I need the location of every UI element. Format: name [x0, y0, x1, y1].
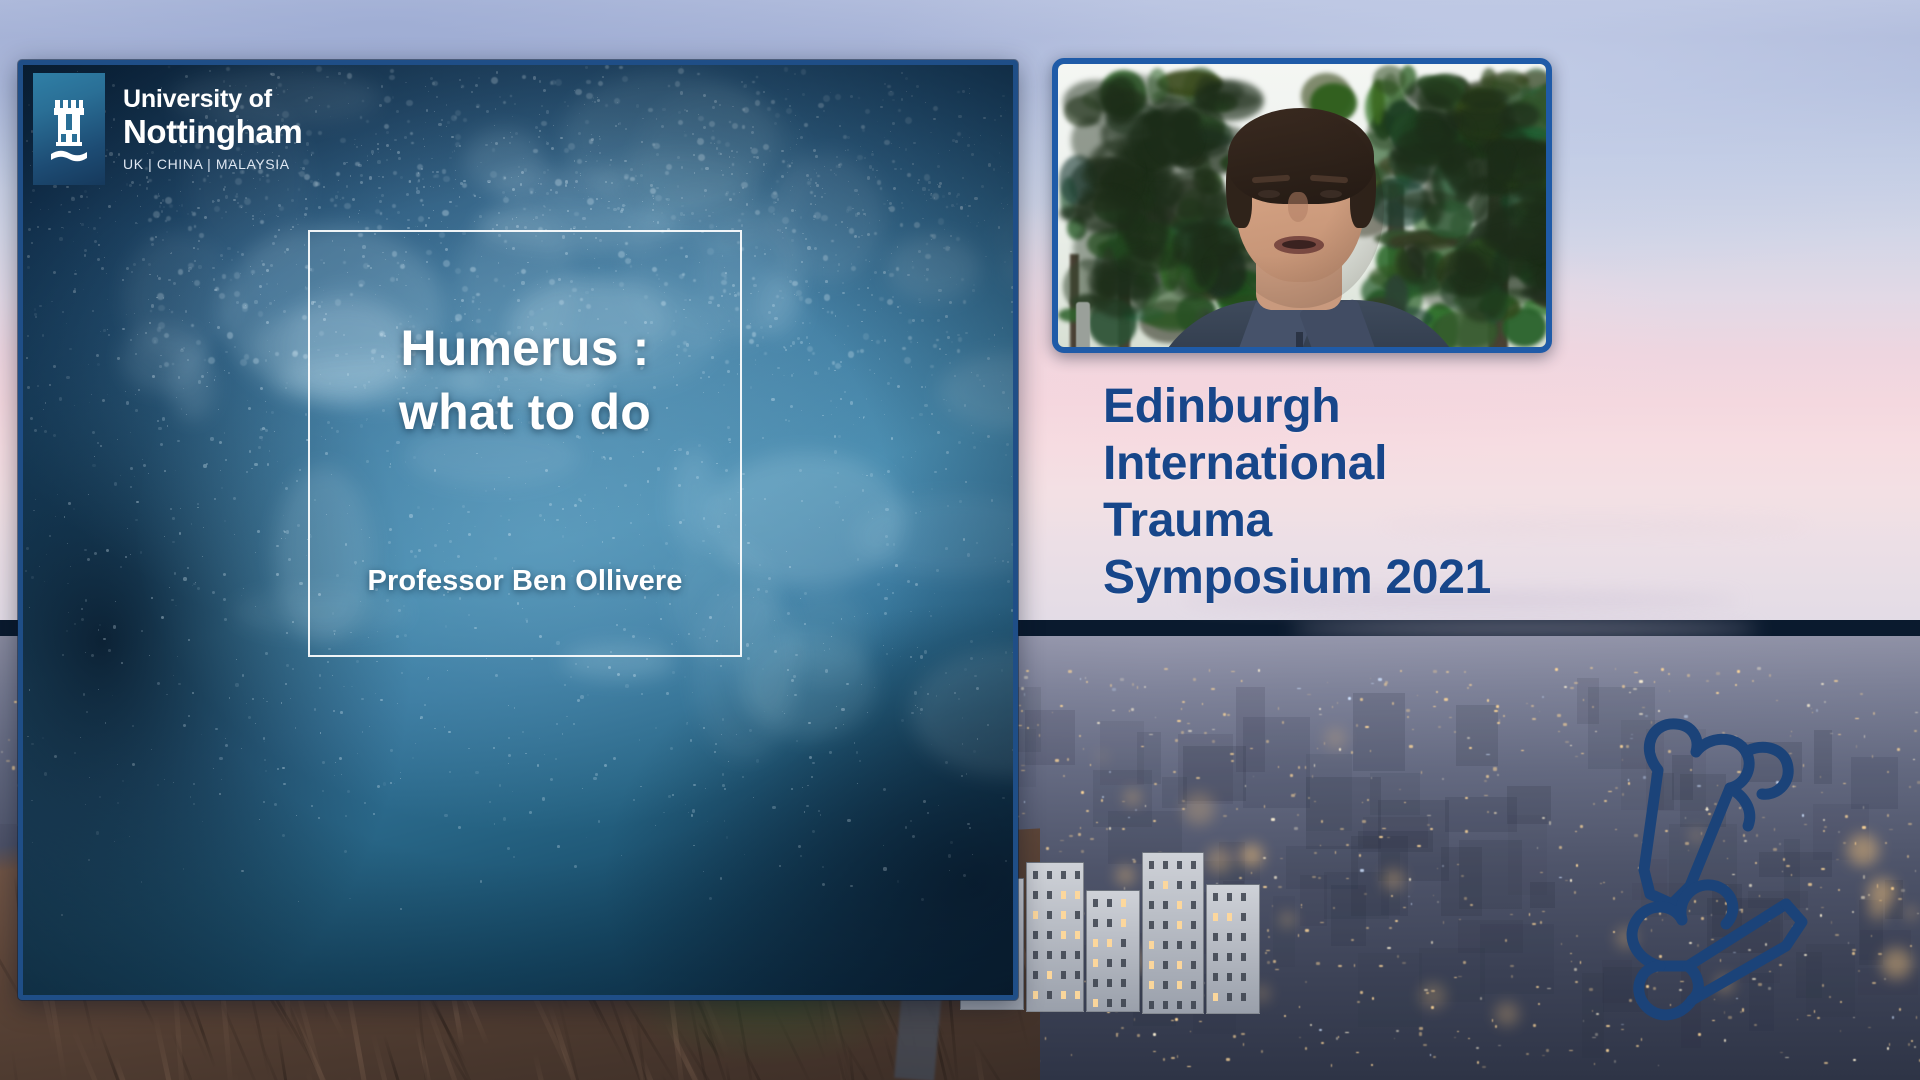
presentation-slide[interactable]: University of Nottingham UK | CHINA | MA…: [18, 60, 1018, 1000]
university-of-nottingham-logo: University of Nottingham UK | CHINA | MA…: [33, 73, 302, 193]
webcam-scene: [1058, 64, 1546, 347]
slide-title: Humerus : what to do: [399, 316, 651, 444]
presentation-stage: University of Nottingham UK | CHINA | MA…: [0, 0, 1920, 1080]
crest-icon: [33, 73, 105, 185]
speaker-face-shading: [1218, 108, 1384, 308]
event-title: Edinburgh International Trauma Symposium…: [1103, 378, 1903, 606]
webcam-video-panel[interactable]: [1052, 58, 1552, 353]
university-logo-text: University of Nottingham UK | CHINA | MA…: [105, 73, 302, 171]
slide-title-frame: Humerus : what to do Professor Ben Olliv…: [308, 230, 742, 657]
fractured-bone-logo-icon: [1540, 708, 1900, 1058]
slide-presenter-name: Professor Ben Ollivere: [310, 565, 740, 598]
logo-line-university-of: University of: [123, 87, 302, 112]
webcam-post: [1076, 302, 1090, 353]
logo-line-campuses: UK | CHINA | MALAYSIA: [123, 157, 302, 171]
logo-line-nottingham: Nottingham: [123, 115, 302, 148]
shirt-placket: [1296, 332, 1303, 353]
